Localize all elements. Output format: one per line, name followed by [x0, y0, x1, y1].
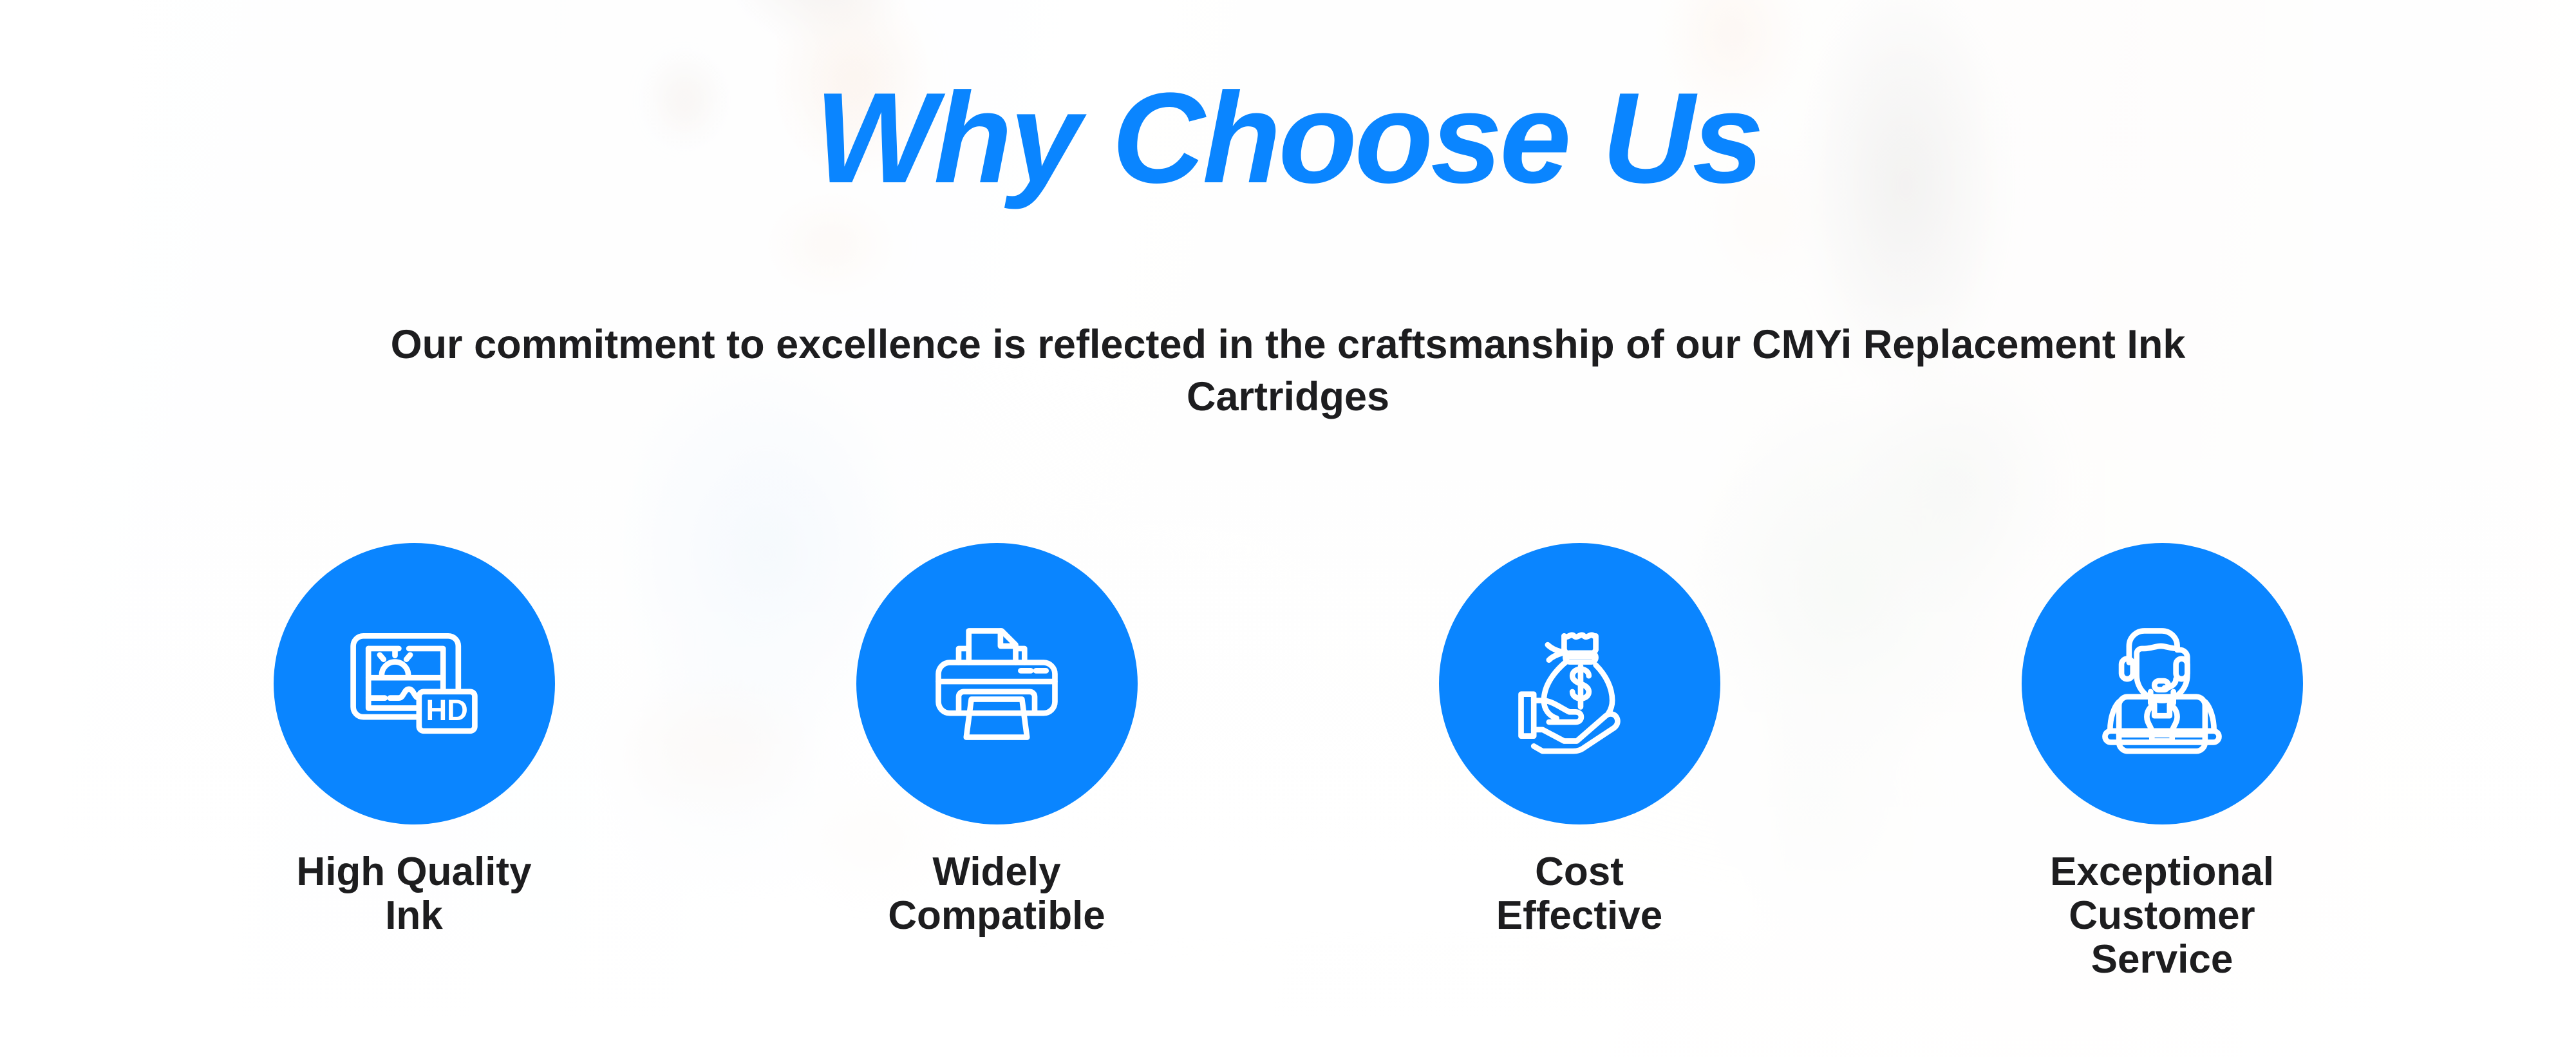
feature-item-exceptional-customer-service: Exceptional Customer Service [2022, 543, 2303, 982]
feature-icon-badge [1439, 543, 1720, 824]
page-title: Why Choose Us [0, 74, 2576, 203]
feature-item-widely-compatible: Widely Compatible [856, 543, 1138, 982]
feature-item-cost-effective: Cost Effective [1439, 543, 1720, 982]
feature-label: High Quality Ink [296, 850, 531, 938]
feature-label: Widely Compatible [888, 850, 1105, 938]
feature-item-high-quality-ink: HD High Quality Ink [274, 543, 555, 982]
feature-list: HD High Quality Ink Widel [0, 543, 2576, 982]
feature-icon-badge [856, 543, 1138, 824]
feature-label: Cost Effective [1496, 850, 1662, 938]
feature-icon-badge: HD [274, 543, 555, 824]
hd-image-quality-icon: HD [338, 608, 490, 760]
feature-label: Exceptional Customer Service [2022, 850, 2303, 982]
customer-support-agent-icon [2086, 608, 2238, 760]
hd-badge-text: HD [426, 694, 467, 727]
hero-section: Why Choose Us Our commitment to excellen… [0, 0, 2576, 1057]
feature-icon-badge [2022, 543, 2303, 824]
hand-holding-money-bag-icon [1503, 608, 1655, 760]
page-subtitle: Our commitment to excellence is reflecte… [355, 319, 2222, 423]
printer-icon [921, 608, 1073, 760]
